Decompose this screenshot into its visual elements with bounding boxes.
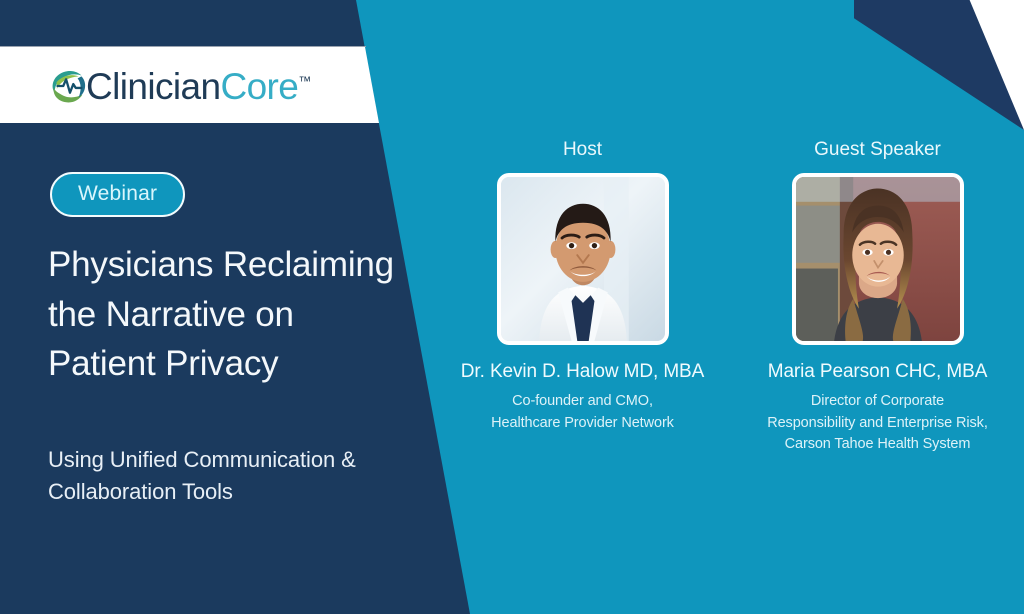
wordmark-clinician: Clinician: [86, 66, 220, 107]
speaker-title-line: Responsibility and Enterprise Risk,: [745, 413, 1010, 435]
speaker-role-label: Host: [450, 140, 715, 159]
speaker-card-host: Host: [450, 140, 715, 456]
speakers-section: Host: [450, 140, 1010, 456]
page-subtitle: Using Unified Communication & Collaborat…: [48, 444, 408, 508]
host-headshot-photo: [497, 173, 669, 345]
brand-wordmark: ClinicianCore™: [86, 68, 311, 105]
speaker-title-line: Director of Corporate: [745, 391, 1010, 413]
guest-speaker-headshot-photo: [792, 173, 964, 345]
wordmark-core: Core: [220, 66, 298, 107]
speaker-role-label: Guest Speaker: [745, 140, 1010, 159]
webinar-promo-graphic: ClinicianCore™ Webinar Physicians Reclai…: [0, 0, 1024, 614]
speaker-title: Director of Corporate Responsibility and…: [745, 391, 1010, 456]
speaker-name: Dr. Kevin D. Halow MD, MBA: [450, 361, 715, 384]
page-title: Physicians Reclaiming the Narrative on P…: [48, 240, 398, 389]
speaker-title-line: Carson Tahoe Health System: [745, 434, 1010, 456]
speaker-title: Co-founder and CMO, Healthcare Provider …: [450, 391, 715, 435]
wordmark-linician: linician: [112, 66, 220, 107]
speaker-title-line: Co-founder and CMO,: [450, 391, 715, 413]
logo-band-divider: [0, 46, 366, 47]
speaker-title-line: Healthcare Provider Network: [450, 413, 715, 435]
speaker-card-guest: Guest Speaker: [745, 140, 1010, 456]
brand-logo: ClinicianCore™: [46, 58, 311, 114]
wordmark-leading-c: C: [86, 66, 112, 107]
trademark-symbol: ™: [298, 73, 311, 88]
speaker-name: Maria Pearson CHC, MBA: [745, 361, 1010, 384]
webinar-badge: Webinar: [50, 172, 185, 217]
